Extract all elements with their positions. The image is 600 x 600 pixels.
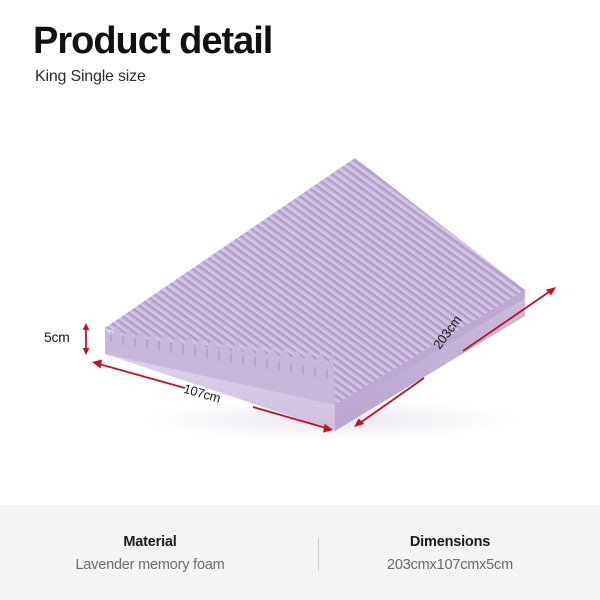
spec-column-material: Material Lavender memory foam	[0, 529, 300, 576]
header: Product detail King Single size	[33, 22, 553, 86]
spec-divider	[318, 538, 319, 571]
spec-value-dimensions: 203cmx107cmx5cm	[300, 555, 600, 576]
spec-title-dimensions: Dimensions	[300, 533, 600, 553]
spec-title-material: Material	[0, 533, 300, 553]
foam-topper-graphic	[0, 120, 600, 460]
specification-bar: Material Lavender memory foam Dimensions…	[0, 505, 600, 600]
spec-value-material: Lavender memory foam	[0, 555, 300, 576]
page-title: Product detail	[33, 22, 553, 62]
product-detail-page: Product detail King Single size	[0, 0, 600, 600]
page-subtitle: King Single size	[35, 68, 553, 86]
spec-column-dimensions: Dimensions 203cmx107cmx5cm	[300, 529, 600, 576]
product-illustration	[0, 120, 600, 460]
dimension-label-thickness: 5cm	[44, 329, 70, 345]
arrow-5cm	[83, 323, 90, 355]
